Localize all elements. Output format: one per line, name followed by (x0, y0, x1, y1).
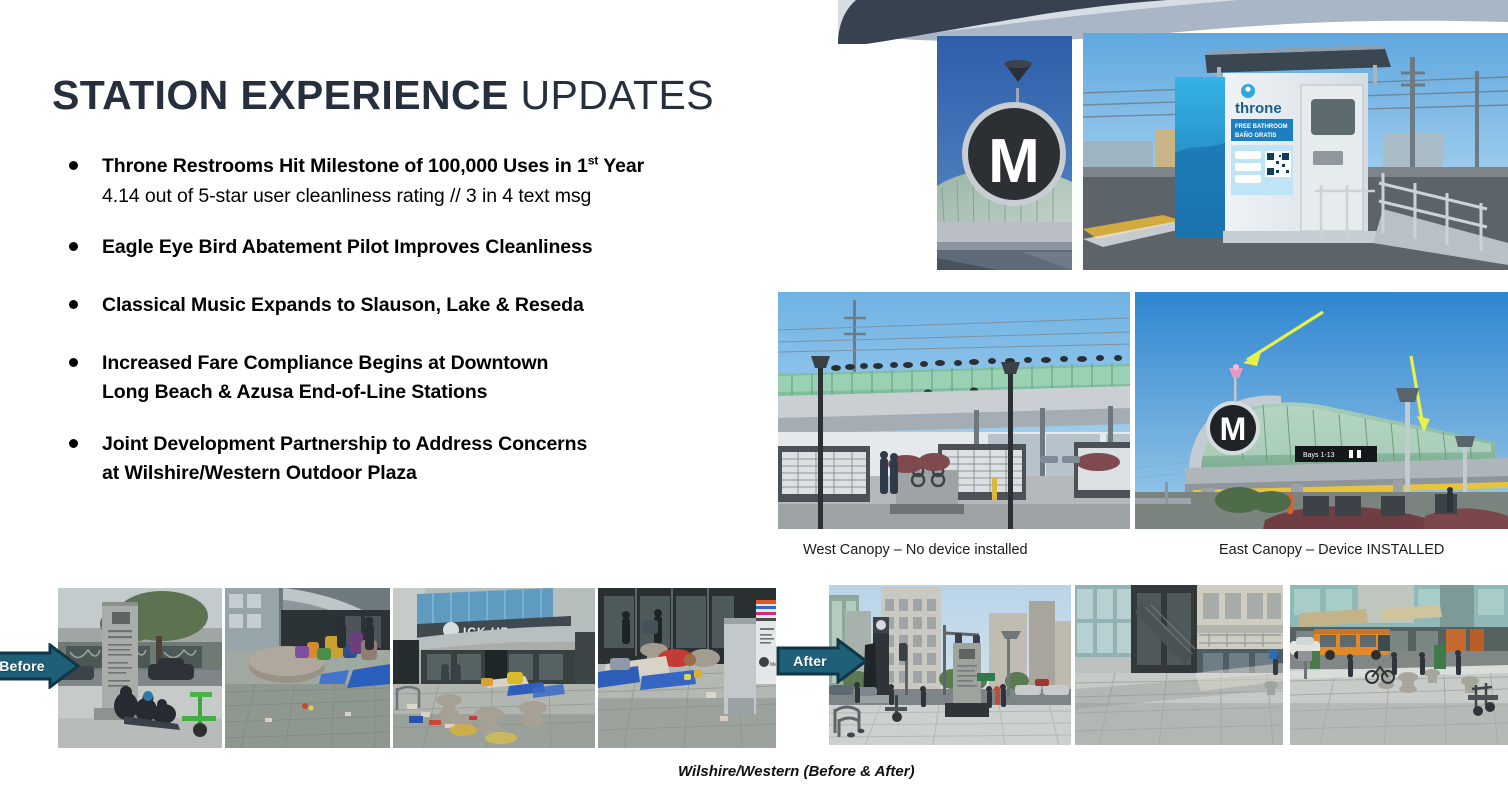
list-item: Increased Fare Compliance Begins at Down… (62, 349, 792, 408)
west-canopy-birds-photo (778, 292, 1130, 529)
ordinal-suffix: st (588, 154, 599, 168)
bullet-heading: Increased Fare Compliance Begins at Down… (102, 349, 792, 379)
svg-text:M: M (988, 127, 1040, 196)
list-item: Joint Development Partnership to Address… (62, 430, 792, 489)
west-canopy-caption: West Canopy – No device installed (803, 542, 1028, 558)
before-arrow-banner: Before (0, 643, 80, 689)
bullet-heading: Classical Music Expands to Slauson, Lake… (102, 291, 792, 321)
before-plaza-encampment-photo: Metro (598, 588, 776, 748)
slide-canvas: STATION EXPERIENCE UPDATES Throne Restro… (0, 0, 1508, 803)
svg-text:Bays 1-13: Bays 1-13 (1303, 452, 1335, 459)
throne-sign-line1: FREE BATHROOM (1235, 124, 1288, 130)
after-plaza-bus-photo (1290, 585, 1508, 745)
after-arrow-banner: After (776, 638, 868, 684)
title-bold-part: STATION EXPERIENCE (52, 72, 509, 118)
bullet-heading-text: Throne Restrooms Hit Milestone of 100,00… (102, 155, 588, 177)
bullet-dot-icon (69, 161, 78, 170)
bullet-dot-icon (69, 242, 78, 251)
list-item: Classical Music Expands to Slauson, Lake… (62, 291, 792, 321)
svg-text:M: M (1220, 411, 1247, 447)
after-arrow-label: After (776, 638, 844, 684)
throne-restroom-kiosk-photo: throne FREE BATHROOM BAÑO GRATIS (1083, 33, 1508, 270)
list-item: Throne Restrooms Hit Milestone of 100,00… (62, 152, 792, 211)
bullet-heading-line2: Long Beach & Azusa End-of-Line Stations (102, 378, 792, 408)
bullet-dot-icon (69, 300, 78, 309)
bullet-dot-icon (69, 439, 78, 448)
slide-title: STATION EXPERIENCE UPDATES (52, 72, 714, 119)
before-plaza-monument-photo (58, 588, 222, 748)
bullet-heading-line2: at Wilshire/Western Outdoor Plaza (102, 459, 792, 489)
throne-sign-line2: BAÑO GRATIS (1235, 132, 1277, 139)
bullet-heading: Eagle Eye Bird Abatement Pilot Improves … (102, 233, 792, 263)
bullet-dot-icon (69, 358, 78, 367)
bullet-heading: Joint Development Partnership to Address… (102, 430, 792, 460)
before-after-caption: Wilshire/Western (Before & After) (678, 763, 915, 780)
before-plaza-debris-photo (225, 588, 390, 748)
east-canopy-device-photo: M Bays 1-13 (1135, 292, 1508, 529)
metro-m-station-sign-photo: M (937, 36, 1072, 270)
bullet-heading-tail: Year (598, 155, 644, 177)
bullet-list: Throne Restrooms Hit Milestone of 100,00… (62, 152, 792, 507)
east-canopy-caption: East Canopy – Device INSTALLED (1219, 542, 1444, 558)
list-item: Eagle Eye Bird Abatement Pilot Improves … (62, 233, 792, 263)
before-plaza-pickup-photo: ICK UP (393, 588, 595, 748)
bullet-subtext: 4.14 out of 5-star user cleanliness rati… (102, 182, 792, 212)
bullet-heading: Throne Restrooms Hit Milestone of 100,00… (102, 152, 792, 182)
before-arrow-label: Before (0, 643, 56, 689)
throne-brand-text: throne (1235, 100, 1282, 117)
after-plaza-walkway-photo (1075, 585, 1283, 745)
title-light-part: UPDATES (521, 72, 714, 118)
